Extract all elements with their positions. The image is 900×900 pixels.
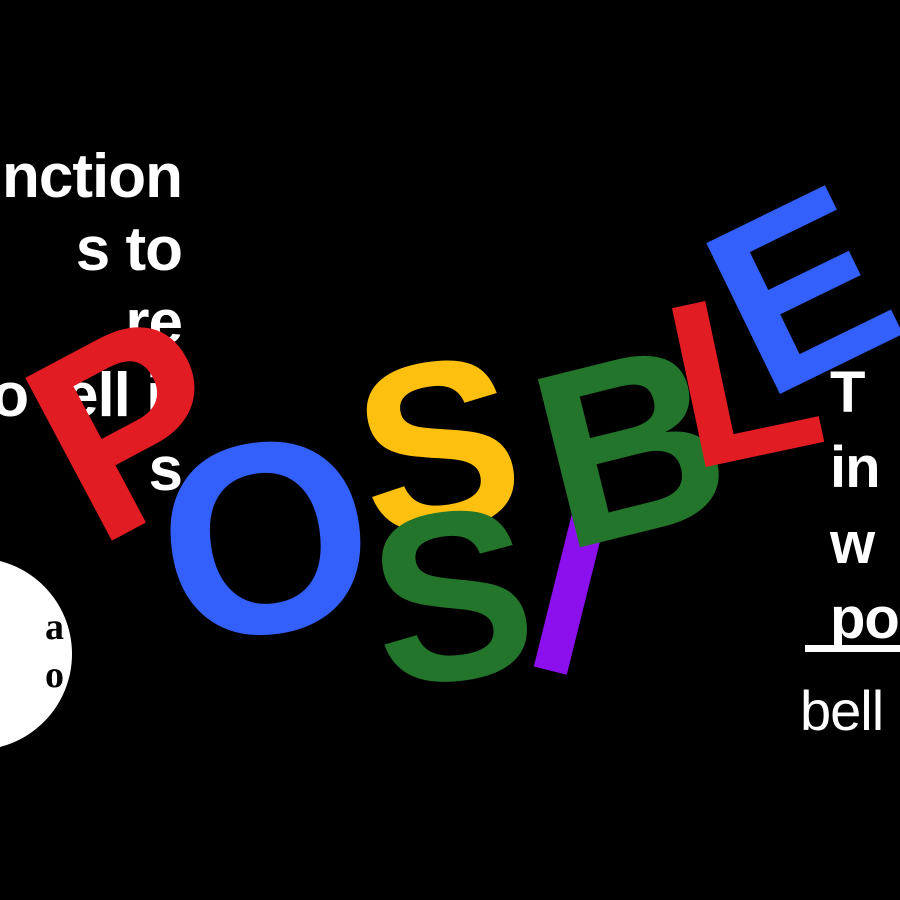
letter-p: P bbox=[2, 289, 260, 562]
right-text-line-2: in bbox=[830, 430, 900, 505]
horizontal-rule bbox=[805, 645, 900, 652]
circle-badge-line-2: o bbox=[0, 652, 64, 700]
circle-badge-line-1: a bbox=[0, 604, 64, 652]
circle-badge: a o bbox=[0, 558, 72, 750]
left-text-line-1: nction bbox=[0, 140, 182, 213]
letter-s-green: S bbox=[361, 491, 543, 701]
circle-badge-text: a o bbox=[0, 604, 64, 699]
right-text-line-3: w bbox=[830, 506, 900, 581]
right-footer-text: bell bbox=[800, 678, 883, 743]
poster-canvas: nction s to re o tell it s a o P O S S I… bbox=[0, 0, 900, 900]
